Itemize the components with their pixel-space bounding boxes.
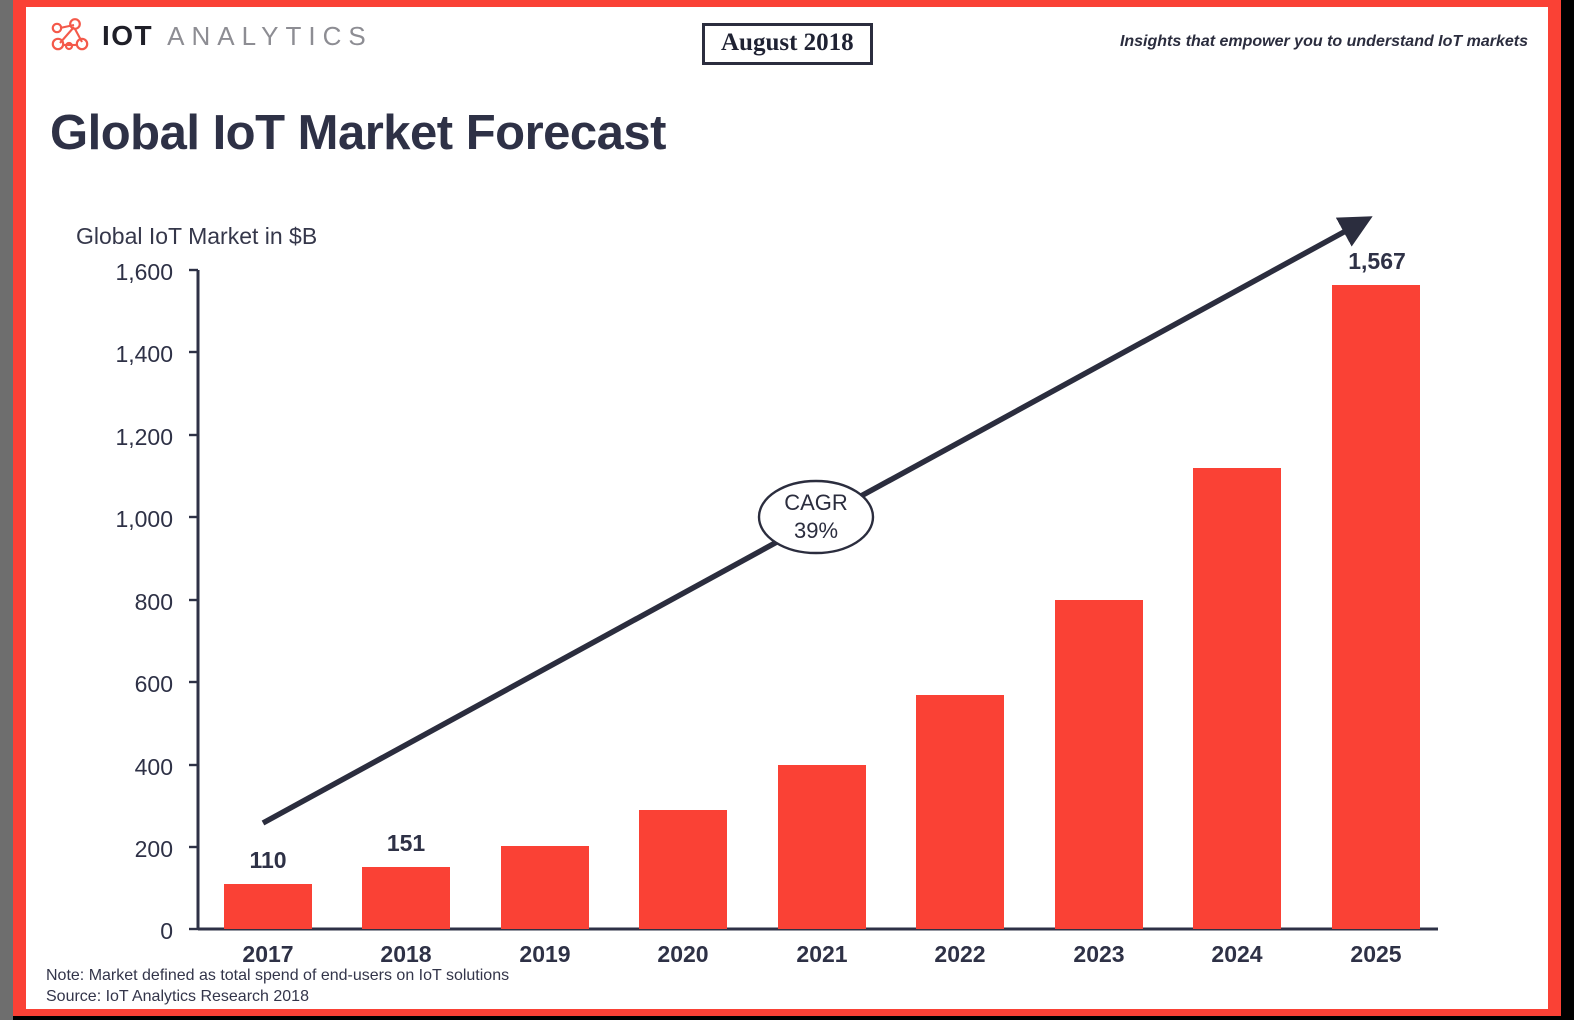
xtick-2021: 2021 bbox=[778, 941, 866, 968]
bar-label-2025: 1,567 bbox=[1322, 248, 1432, 275]
xtick-2018: 2018 bbox=[362, 941, 450, 968]
ytick-1600: 1,600 bbox=[83, 259, 173, 286]
bar-2017[interactable] bbox=[224, 884, 312, 929]
xtick-2019: 2019 bbox=[501, 941, 589, 968]
ytick-800: 800 bbox=[83, 589, 173, 616]
bar-2023[interactable] bbox=[1055, 600, 1143, 929]
ytick-1400: 1,400 bbox=[83, 341, 173, 368]
slide-red-frame: IOT ANALYTICS August 2018 Insights that … bbox=[13, 0, 1561, 1016]
bar-label-2017: 110 bbox=[224, 847, 312, 874]
slide-page: IOT ANALYTICS August 2018 Insights that … bbox=[0, 0, 1574, 1020]
xtick-2020: 2020 bbox=[639, 941, 727, 968]
bar-2025[interactable] bbox=[1332, 285, 1420, 929]
ytick-1000: 1,000 bbox=[83, 506, 173, 533]
ytick-600: 600 bbox=[83, 671, 173, 698]
bar-2021[interactable] bbox=[778, 765, 866, 929]
footer-source: Source: IoT Analytics Research 2018 bbox=[46, 988, 309, 1006]
bar-2019[interactable] bbox=[501, 846, 589, 929]
cagr-label-line1: CAGR bbox=[759, 489, 873, 517]
ytick-1200: 1,200 bbox=[83, 424, 173, 451]
ytick-0: 0 bbox=[83, 918, 173, 945]
bar-2020[interactable] bbox=[639, 810, 727, 929]
footer-note: Note: Market defined as total spend of e… bbox=[46, 967, 509, 985]
xtick-2024: 2024 bbox=[1193, 941, 1281, 968]
bar-2018[interactable] bbox=[362, 867, 450, 929]
bar-chart: Global IoT Market in $B bbox=[26, 7, 1548, 1009]
xtick-2022: 2022 bbox=[916, 941, 1004, 968]
left-edge-strip bbox=[0, 0, 13, 1020]
xtick-2025: 2025 bbox=[1332, 941, 1420, 968]
xtick-2017: 2017 bbox=[224, 941, 312, 968]
bar-2022[interactable] bbox=[916, 695, 1004, 929]
ytick-400: 400 bbox=[83, 754, 173, 781]
cagr-label-line2: 39% bbox=[759, 517, 873, 545]
xtick-2023: 2023 bbox=[1055, 941, 1143, 968]
bar-2024[interactable] bbox=[1193, 468, 1281, 929]
bar-label-2018: 151 bbox=[362, 830, 450, 857]
slide-content: IOT ANALYTICS August 2018 Insights that … bbox=[26, 7, 1548, 1009]
ytick-200: 200 bbox=[83, 836, 173, 863]
